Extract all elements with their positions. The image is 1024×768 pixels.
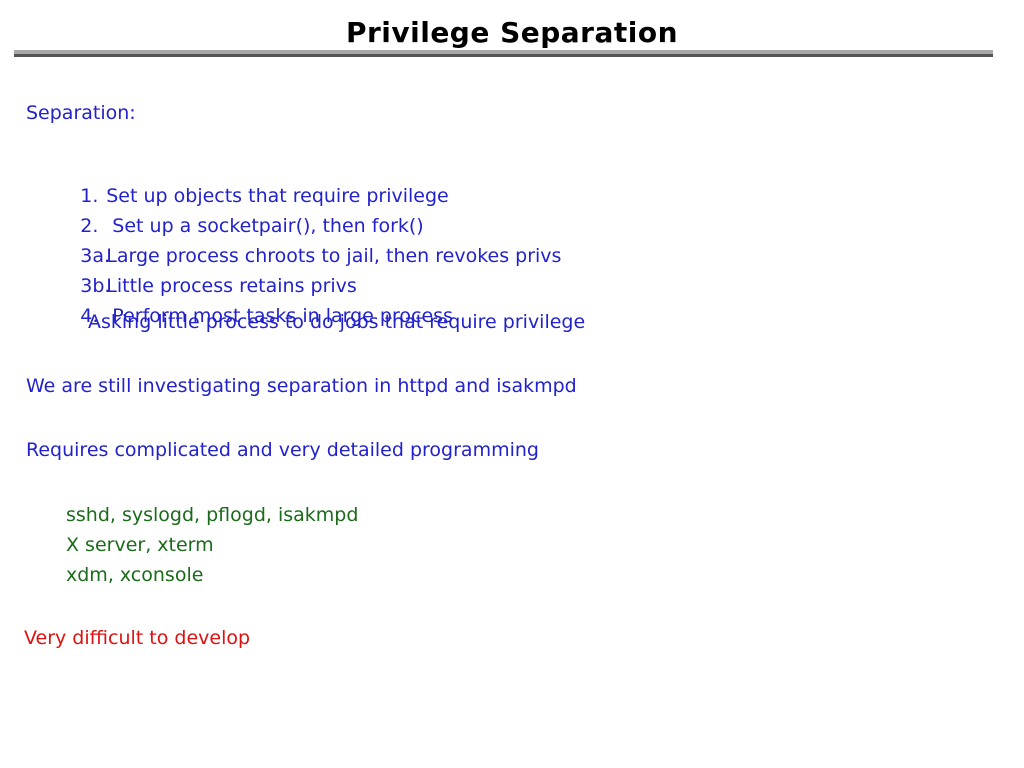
paragraph-investigating: We are still investigating separation in… [26,374,577,398]
slide-body: Separation: 1.Set up objects that requir… [0,0,1024,768]
list-item-continuation: Asking little process to do jobs that re… [88,310,585,334]
section-heading-separation: Separation: [26,101,136,125]
closing-statement: Very difficult to develop [24,626,250,650]
software-list-item: xdm, xconsole [66,563,203,587]
slide-canvas: Privilege Separation Separation: 1.Set u… [0,0,1024,768]
software-list-item: sshd, syslogd, pflogd, isakmpd [66,503,358,527]
software-list-item: X server, xterm [66,533,214,557]
paragraph-requires: Requires complicated and very detailed p… [26,438,539,462]
